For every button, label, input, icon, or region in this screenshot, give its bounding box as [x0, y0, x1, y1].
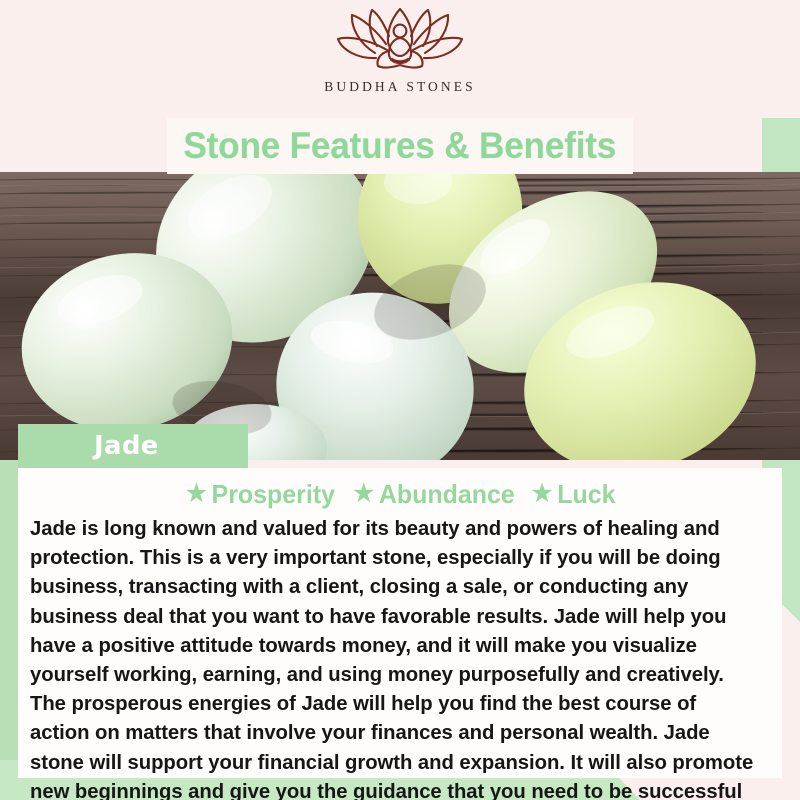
page-title: Stone Features & Benefits: [184, 125, 617, 167]
stone-description: Jade is long known and valued for its be…: [30, 514, 761, 800]
star-icon: ★: [532, 482, 553, 506]
lotus-meditation-icon: [332, 6, 468, 77]
star-icon: ★: [353, 482, 374, 506]
stone-name-band: Jade: [18, 424, 248, 468]
section-title-banner: Stone Features & Benefits: [167, 118, 633, 174]
star-icon: ★: [186, 482, 207, 506]
infographic-page: BUDDHA STONES Stone Features & Benefits …: [0, 0, 800, 800]
stone-name-label: Jade: [94, 431, 159, 461]
benefits-list: ★ Prosperity ★ Abundance ★ Luck: [24, 476, 776, 512]
benefit-label: Prosperity: [211, 479, 334, 510]
benefit-label: Luck: [557, 479, 615, 510]
benefit-label: Abundance: [379, 479, 515, 510]
benefit-item: ★ Abundance: [353, 479, 514, 510]
benefit-item: ★ Prosperity: [186, 479, 335, 510]
brand-name: BUDDHA STONES: [324, 79, 475, 95]
benefit-item: ★ Luck: [532, 479, 616, 510]
content-panel: ★ Prosperity ★ Abundance ★ Luck Jade is …: [18, 468, 782, 778]
stone-photo: [0, 172, 800, 460]
brand-header: BUDDHA STONES: [0, 0, 800, 118]
